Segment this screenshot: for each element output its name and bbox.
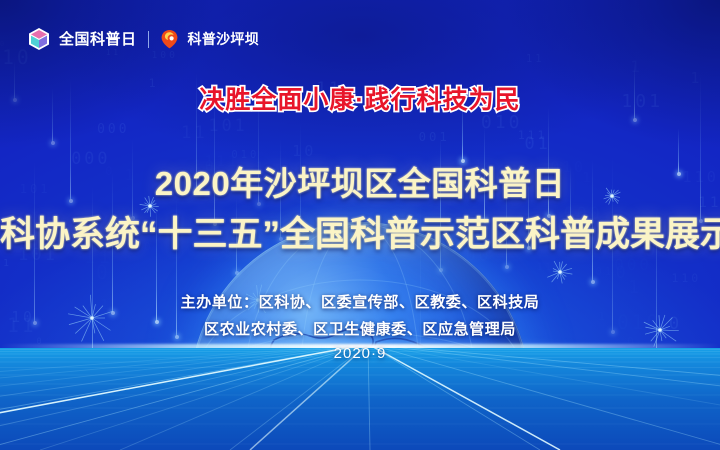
binary-digit: 11 — [240, 275, 262, 290]
binary-digit: 000 — [614, 255, 652, 274]
binary-digit: 0 — [616, 263, 629, 282]
sparkle-burst-icon — [546, 258, 574, 286]
binary-digit: 011 — [451, 277, 475, 287]
binary-digit: 0 — [96, 261, 111, 284]
event-slogan: 决胜全面小康·践行科技为民 — [0, 80, 720, 116]
perspective-grid-graphic — [0, 348, 720, 450]
binary-digit: 001 — [419, 130, 450, 144]
grid-lines-icon — [0, 348, 720, 450]
binary-digit: 1 — [630, 57, 642, 76]
logo-secondary-text: 科普沙坪坝 — [188, 32, 260, 46]
organizers-line2: 区农业农村委、区卫生健康委、区应急管理局 — [0, 318, 720, 339]
page-title-line1: 2020年沙坪坝区全国科普日 — [0, 157, 720, 205]
binary-digit: 1 — [3, 258, 12, 269]
flame-swoosh-icon — [160, 29, 179, 49]
binary-digit: 11 — [526, 53, 545, 65]
poster-canvas: 0011000000000001101011100001011111010100… — [0, 0, 720, 450]
binary-digit: 11 — [181, 123, 208, 143]
binary-digit: 111 — [518, 128, 548, 142]
brand-logo-bar[interactable]: 全国科普日 科普沙坪坝 — [28, 27, 259, 51]
binary-digit: 01 — [595, 265, 614, 278]
binary-digit: 01 — [525, 133, 551, 153]
binary-digit: 110 — [671, 271, 701, 285]
binary-digit: 0 — [290, 264, 302, 282]
organizers-line1: 主办单位：区科协、区委宣传部、区教委、区科技局 — [0, 291, 720, 312]
binary-digit: 0 — [0, 40, 7, 48]
logo-primary-text: 全国科普日 — [59, 32, 137, 47]
page-title-line2: 科协系统“十三五”全国科普示范区科普成果展示展评 — [0, 206, 720, 257]
hexagon-cube-icon — [28, 27, 50, 51]
binary-digit: 101 — [209, 115, 248, 135]
binary-digit: 100 — [151, 50, 178, 61]
binary-digit: 110 — [537, 262, 563, 273]
event-date: 2020·9 — [0, 345, 720, 362]
binary-digit: 000 — [97, 122, 129, 137]
logo-divider — [148, 31, 149, 48]
